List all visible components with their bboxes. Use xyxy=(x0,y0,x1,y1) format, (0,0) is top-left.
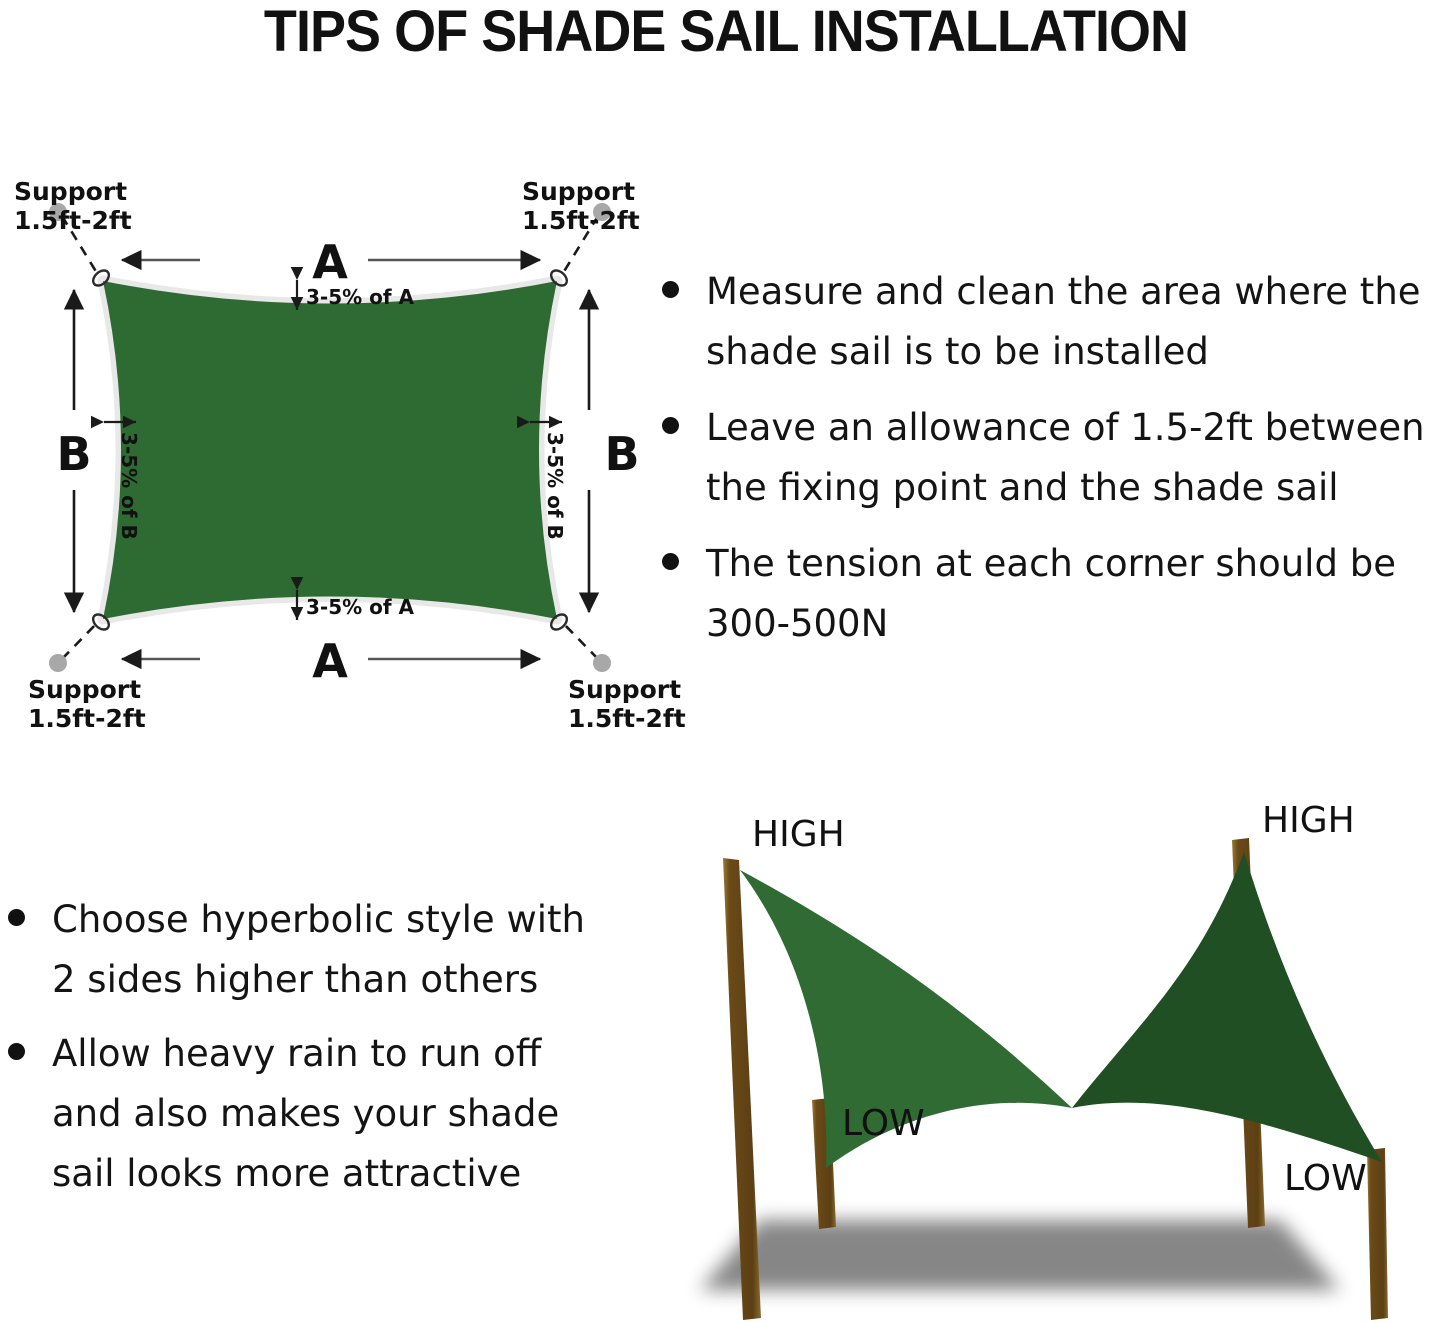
list-item: Leave an allowance of 1.5-2ft between th… xyxy=(648,398,1452,518)
dimension-B-left: B xyxy=(56,290,91,612)
curve-depth-label-bottom: 3-5% of A xyxy=(306,595,415,619)
curve-depth-left: 3-5% of B xyxy=(104,422,141,540)
list-item: Allow heavy rain to run off and also mak… xyxy=(0,1024,620,1204)
curve-depth-label-right: 3-5% of B xyxy=(543,432,567,540)
curve-depth-top: 3-5% of A xyxy=(297,280,415,310)
dimension-label-B-right: B xyxy=(604,427,639,481)
post-label-low-left: LOW xyxy=(842,1103,925,1144)
dimension-label-A-bottom: A xyxy=(312,634,348,688)
hyperbolic-sail-illustration: HIGH HIGH LOW LOW xyxy=(640,790,1452,1325)
post-low-right xyxy=(1367,1148,1388,1320)
installation-tips-list: Measure and clean the area where the sha… xyxy=(648,262,1452,670)
support-label-bottom-left: Support 1.5ft-2ft xyxy=(28,675,146,733)
support-label-bottom-right-line1: Support xyxy=(568,675,681,704)
curve-depth-label-left: 3-5% of B xyxy=(117,432,141,540)
curve-depth-label-top: 3-5% of A xyxy=(306,285,415,309)
tip-text: Choose hyperbolic style with 2 sides hig… xyxy=(52,898,585,1001)
support-label-top-right-line1: Support xyxy=(522,177,635,206)
support-label-top-left-line2: 1.5ft-2ft xyxy=(14,206,132,235)
tip-text: Measure and clean the area where the sha… xyxy=(706,270,1421,373)
bullet-dot-icon xyxy=(662,417,679,434)
bullet-dot-icon xyxy=(8,909,25,926)
support-label-top-right-line2: 1.5ft-2ft xyxy=(522,206,640,235)
dimension-label-B-left: B xyxy=(56,427,91,481)
leader-bottom-left xyxy=(62,620,100,659)
curve-depth-bottom: 3-5% of A xyxy=(297,590,415,620)
support-label-bottom-right: Support 1.5ft-2ft xyxy=(568,675,686,733)
support-label-bottom-right-line2: 1.5ft-2ft xyxy=(568,704,686,733)
list-item: Choose hyperbolic style with 2 sides hig… xyxy=(0,890,620,1010)
support-dot-bottom-right xyxy=(593,654,611,672)
page-title: TIPS OF SHADE SAIL INSTALLATION xyxy=(51,0,1401,62)
bullet-dot-icon xyxy=(8,1043,25,1060)
support-label-bottom-left-line2: 1.5ft-2ft xyxy=(28,704,146,733)
bullet-dot-icon xyxy=(662,281,679,298)
support-label-bottom-left-line1: Support xyxy=(28,675,141,704)
post-label-high-left: HIGH xyxy=(752,814,845,855)
tip-text: Allow heavy rain to run off and also mak… xyxy=(52,1032,559,1195)
dimension-label-A-top: A xyxy=(312,235,348,289)
support-label-top-left: Support 1.5ft-2ft xyxy=(14,177,132,235)
ground-shadow xyxy=(700,1220,1340,1290)
rectangular-sail-diagram: A 3-5% of A A 3-5% of A B 3-5% of B xyxy=(0,150,660,750)
list-item: The tension at each corner should be 300… xyxy=(648,534,1452,654)
leader-bottom-right xyxy=(560,620,598,659)
tip-text: The tension at each corner should be 300… xyxy=(706,542,1396,645)
support-label-top-left-line1: Support xyxy=(14,177,127,206)
dimension-A-top: A xyxy=(122,235,540,289)
sail-shape xyxy=(103,281,557,619)
hyperbolic-tips-list: Choose hyperbolic style with 2 sides hig… xyxy=(0,890,620,1218)
support-dot-bottom-left xyxy=(49,654,67,672)
tip-text: Leave an allowance of 1.5-2ft between th… xyxy=(706,406,1425,509)
sail-panel-rear xyxy=(1072,852,1382,1162)
dimension-B-right: B xyxy=(589,290,640,612)
dimension-A-bottom: A xyxy=(122,634,540,688)
bullet-dot-icon xyxy=(662,553,679,570)
post-label-high-right: HIGH xyxy=(1262,800,1355,841)
post-label-low-right: LOW xyxy=(1284,1158,1367,1199)
list-item: Measure and clean the area where the sha… xyxy=(648,262,1452,382)
support-label-top-right: Support 1.5ft-2ft xyxy=(522,177,640,235)
